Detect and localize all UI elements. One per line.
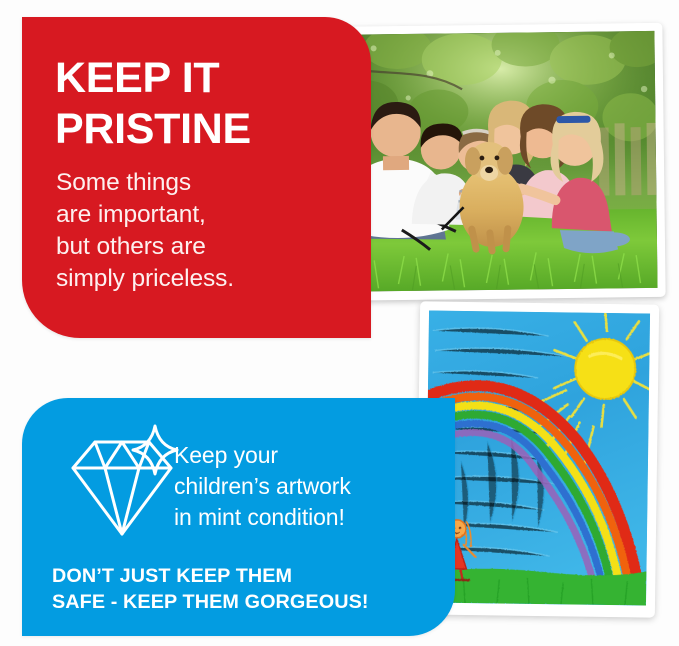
childrens-artwork-image: [425, 310, 650, 605]
headline-line-2: PRISTINE: [55, 104, 355, 155]
diamond-icon-glyph: [67, 420, 189, 540]
blue-copy-line-2: children’s artwork: [174, 471, 444, 502]
subcopy-line-4: simply priceless.: [56, 263, 346, 295]
blue-panel-cta: DON’T JUST KEEP THEM SAFE - KEEP THEM GO…: [52, 563, 452, 615]
headline-line-1: KEEP IT: [55, 53, 355, 104]
page-title: KEEP IT PRISTINE: [55, 53, 355, 155]
rainbow-crayon-drawing: [425, 310, 650, 605]
subcopy-line-2: are important,: [56, 199, 346, 231]
promo-banner: KEEP IT PRISTINE Some things are importa…: [0, 0, 679, 646]
blue-panel-copy: Keep your children’s artwork in mint con…: [174, 440, 444, 533]
subcopy-line-3: but others are: [56, 231, 346, 263]
blue-copy-line-1: Keep your: [174, 440, 444, 471]
red-headline-panel: KEEP IT PRISTINE Some things are importa…: [22, 17, 371, 338]
subcopy-line-1: Some things: [56, 167, 346, 199]
blue-feature-panel: Keep your children’s artwork in mint con…: [22, 398, 455, 636]
red-panel-subcopy: Some things are important, but others ar…: [56, 167, 346, 295]
diamond-sparkle-icon: [67, 420, 189, 540]
cta-line-1: DON’T JUST KEEP THEM: [52, 563, 452, 589]
cta-line-2: SAFE - KEEP THEM GORGEOUS!: [52, 589, 452, 615]
blue-copy-line-3: in mint condition!: [174, 502, 444, 533]
